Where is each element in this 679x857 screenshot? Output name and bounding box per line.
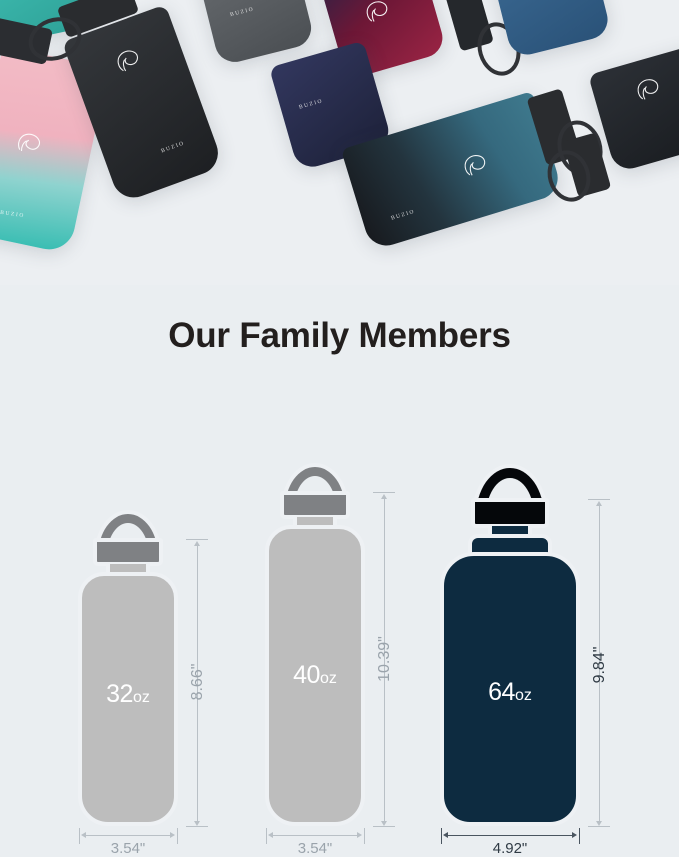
size-comparison-diagram: 32oz 8.66" 3.54" 40oz 10.39" [0, 440, 679, 849]
dim-tick-top-40oz [373, 492, 395, 493]
dim-tick-bottom-32oz [186, 826, 208, 827]
photo-brand-text: BUZIO [298, 98, 324, 111]
dim-arrow-left-64oz [443, 832, 448, 838]
dim-arrow-left-32oz [81, 832, 86, 838]
dim-arrow-right-40oz [357, 832, 362, 838]
dim-arrow-right-32oz [170, 832, 175, 838]
dim-arrow-left-40oz [268, 832, 273, 838]
photo-bottle-gray-slate: BUZIO [193, 0, 316, 66]
dim-arrow-down-32oz [194, 821, 200, 826]
height-label-64oz: 9.84" [591, 636, 609, 694]
capacity-number: 40 [293, 661, 320, 689]
capacity-number: 32 [106, 680, 133, 708]
capacity-label-40oz: 40oz [265, 661, 365, 690]
photo-bottle-black-matte: BUZIO [62, 4, 224, 203]
dim-arrow-down-40oz [381, 821, 387, 826]
bottle-32oz: 32oz 8.66" 3.54" [78, 440, 258, 849]
dim-horizontal-line-40oz [271, 835, 359, 836]
brand-logo-icon [630, 74, 666, 107]
brand-logo-icon [11, 128, 46, 160]
capacity-label-64oz: 64oz [440, 678, 580, 707]
dim-arrow-up-40oz [381, 494, 387, 499]
capacity-unit: oz [133, 689, 150, 706]
capacity-unit: oz [515, 687, 532, 704]
dim-horizontal-line-64oz [446, 835, 574, 836]
dim-tick-top-64oz [588, 499, 610, 500]
dim-tick-top-32oz [186, 539, 208, 540]
cap-32oz [93, 538, 163, 566]
page-title: Our Family Members [0, 316, 679, 356]
brand-logo-icon [109, 44, 146, 79]
capacity-number: 64 [488, 678, 515, 706]
brand-logo-icon [359, 0, 395, 29]
brand-logo-icon [456, 149, 492, 183]
capacity-label-32oz: 32oz [78, 680, 178, 709]
capacity-unit: oz [320, 670, 337, 687]
height-label-40oz: 10.39" [376, 628, 394, 690]
dim-arrow-right-64oz [572, 832, 577, 838]
cap-40oz [280, 491, 350, 519]
dim-horizontal-line-32oz [84, 835, 172, 836]
dim-tick-bottom-40oz [373, 826, 395, 827]
bottle-64oz: 64oz 9.84" 4.92" [440, 440, 640, 849]
bottle-40oz: 40oz 10.39" 3.54" [265, 440, 445, 849]
photo-brand-text: BUZIO [160, 140, 185, 154]
product-photo-band: BUZIO BUZIO BUZIO BUZIO [0, 0, 679, 285]
cap-64oz [471, 498, 549, 528]
height-label-32oz: 8.66" [189, 655, 207, 709]
dim-arrow-up-64oz [596, 501, 602, 506]
photo-brand-text: BUZIO [390, 209, 415, 222]
dim-arrow-down-64oz [596, 821, 602, 826]
dim-arrow-up-32oz [194, 541, 200, 546]
dim-tick-bottom-64oz [588, 826, 610, 827]
photo-brand-text: BUZIO [229, 6, 255, 18]
photo-brand-text: BUZIO [0, 210, 25, 219]
